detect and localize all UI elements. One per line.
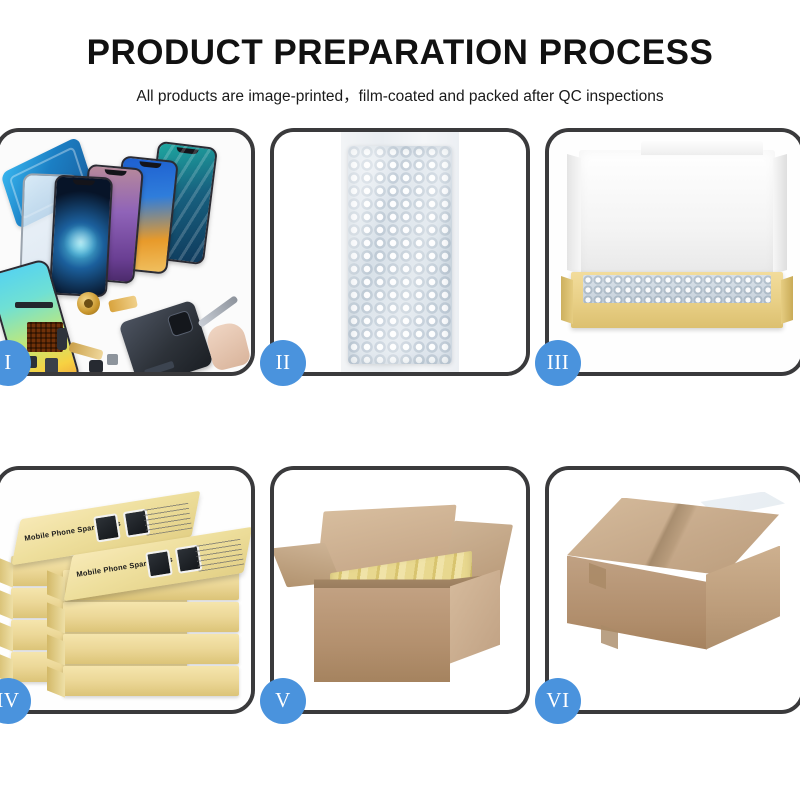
retail-box-stack-icon: Mobile Phone Spare Parts Mobile Phone Sp… [5,484,249,706]
step-6-image [549,470,800,710]
process-step-1: I [0,128,255,376]
screen-thumbnail-icon [145,549,173,578]
process-step-grid: I II III [5,128,795,714]
flex-cable-icon [108,295,138,313]
carton-front-face [314,588,450,682]
small-part-3-icon [89,360,103,372]
step-3-image [549,132,800,372]
process-step-4: Mobile Phone Spare Parts Mobile Phone Sp… [0,466,255,714]
small-part-2-icon [45,358,58,372]
step-5-image [274,470,526,710]
bubble-wrap-icon [348,146,452,364]
step-1-image [0,132,251,372]
tweezers-icon [197,295,238,328]
spec-text-block [142,500,192,535]
step-badge-3: III [535,340,581,386]
process-step-6: VI [545,466,800,714]
step-badge-5: V [260,678,306,724]
bubble-wrapped-contents-icon [583,275,771,303]
step-2-image [274,132,526,372]
small-part-4-icon [107,354,118,365]
product-preparation-infographic: PRODUCT PREPARATION PROCESS All products… [0,0,800,800]
small-part-5-icon [57,328,67,350]
phone-dark-icon [49,174,113,297]
retail-box-layer [63,634,239,664]
process-step-3: III [545,128,800,376]
step-4-image: Mobile Phone Spare Parts Mobile Phone Sp… [0,470,251,710]
step-badge-2: II [260,340,306,386]
screen-thumbnail-icon [93,513,121,542]
phone-chassis-icon [118,299,213,371]
retail-box-layer [63,602,239,632]
battery-bar-icon [15,302,53,308]
page-title: PRODUCT PREPARATION PROCESS [0,34,800,73]
process-step-5: V [270,466,530,714]
spec-text-block [194,536,244,571]
header: PRODUCT PREPARATION PROCESS All products… [0,0,800,106]
page-subtitle: All products are image-printed，film-coat… [0,84,800,106]
retail-box-layer [63,666,239,696]
tray-left-end [561,276,573,324]
box-lid-icon [579,150,775,278]
hand-icon [204,320,251,372]
box-tray-icon [571,272,783,328]
tray-right-end [781,276,793,324]
speaker-coil-icon [77,292,100,315]
step-badge-6: VI [535,678,581,724]
process-step-2: II [270,128,530,376]
